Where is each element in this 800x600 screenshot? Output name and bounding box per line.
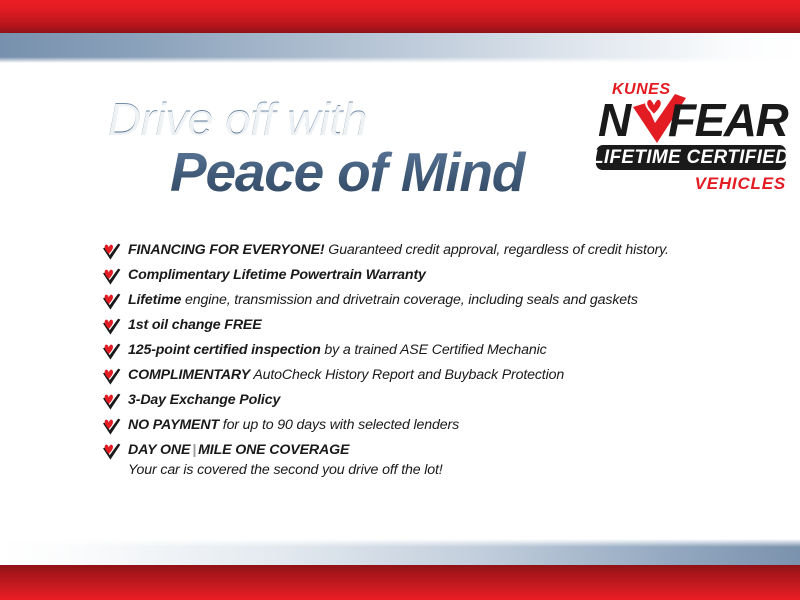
list-item-rest: for up to 90 days with selected lenders [219,417,459,433]
list-item: FINANCING FOR EVERYONE! Guaranteed credi… [102,241,732,266]
check-heart-icon [102,268,121,285]
list-item-bold: Complimentary Lifetime Powertrain Warran… [128,267,426,283]
bottom-gray-band [0,539,800,565]
logo-word-vehicles: VEHICLES [596,175,786,192]
check-heart-icon [102,443,121,460]
logo-letter-n: N [598,97,630,143]
kunes-no-fear-logo: KUNES N FEAR LIFETIME CERTIFIED VEHICLES [596,82,788,192]
check-heart-icon [102,318,121,335]
logo-nofear-wordmark: N FEAR [596,99,788,143]
list-item-text: FINANCING FOR EVERYONE! Guaranteed credi… [128,241,669,260]
list-item-text: 3-Day Exchange Policy [128,391,280,410]
list-item-bold: Lifetime [128,292,181,308]
logo-lifetime-certified-bar: LIFETIME CERTIFIED [596,145,786,170]
list-item-text: DAY ONE|MILE ONE COVERAGE [128,442,349,458]
list-item-separator: | [190,442,198,458]
list-item-group: DAY ONE|MILE ONE COVERAGE Your car is co… [128,441,443,480]
list-item: 1st oil change FREE [102,316,732,341]
headline-line-2: Peace of Mind [170,144,578,200]
list-item-text: 125-point certified inspection by a trai… [128,341,547,360]
list-item: NO PAYMENT for up to 90 days with select… [102,416,732,441]
list-item-bold-b: MILE ONE COVERAGE [198,442,349,458]
logo-word-fear: FEAR [668,97,787,143]
list-item-text: Lifetime engine, transmission and drivet… [128,291,638,310]
check-heart-icon [102,243,121,260]
top-red-band [0,0,800,33]
list-item-text: Complimentary Lifetime Powertrain Warran… [128,266,426,285]
list-item-rest: AutoCheck History Report and Buyback Pro… [250,367,564,383]
list-item-bold: 1st oil change FREE [128,317,262,333]
list-item: 3-Day Exchange Policy [102,391,732,416]
check-heart-icon [102,293,121,310]
list-item-rest: engine, transmission and drivetrain cove… [181,292,638,308]
logo-lifetime-certified-text: LIFETIME CERTIFIED [592,147,789,169]
list-item-text: COMPLIMENTARY AutoCheck History Report a… [128,366,564,385]
list-item-rest: by a trained ASE Certified Mechanic [321,342,547,358]
list-item-bold: NO PAYMENT [128,417,219,433]
list-item: Complimentary Lifetime Powertrain Warran… [102,266,732,291]
page-title: Drive off with Peace of Mind [108,96,578,200]
list-item-rest: Guaranteed credit approval, regardless o… [325,242,669,258]
list-item-text: NO PAYMENT for up to 90 days with select… [128,416,459,435]
list-item-bold: FINANCING FOR EVERYONE! [128,242,325,258]
check-heart-icon [102,368,121,385]
benefits-list: FINANCING FOR EVERYONE! Guaranteed credi… [102,241,732,480]
check-heart-icon [102,343,121,360]
headline-line-1: Drive off with [108,96,578,142]
top-gray-band [0,33,800,63]
bottom-red-band [0,565,800,600]
list-item-subtext: Your car is covered the second you drive… [128,461,443,480]
check-heart-icon [102,418,121,435]
list-item-bold: COMPLIMENTARY [128,367,250,383]
list-item: Lifetime engine, transmission and drivet… [102,291,732,316]
list-item-text: 1st oil change FREE [128,316,262,335]
list-item-bold-a: DAY ONE [128,442,190,458]
list-item-bold: 125-point certified inspection [128,342,321,358]
list-item: 125-point certified inspection by a trai… [102,341,732,366]
list-item: DAY ONE|MILE ONE COVERAGE Your car is co… [102,441,732,480]
list-item: COMPLIMENTARY AutoCheck History Report a… [102,366,732,391]
list-item-bold: 3-Day Exchange Policy [128,392,280,408]
check-heart-icon [102,393,121,410]
